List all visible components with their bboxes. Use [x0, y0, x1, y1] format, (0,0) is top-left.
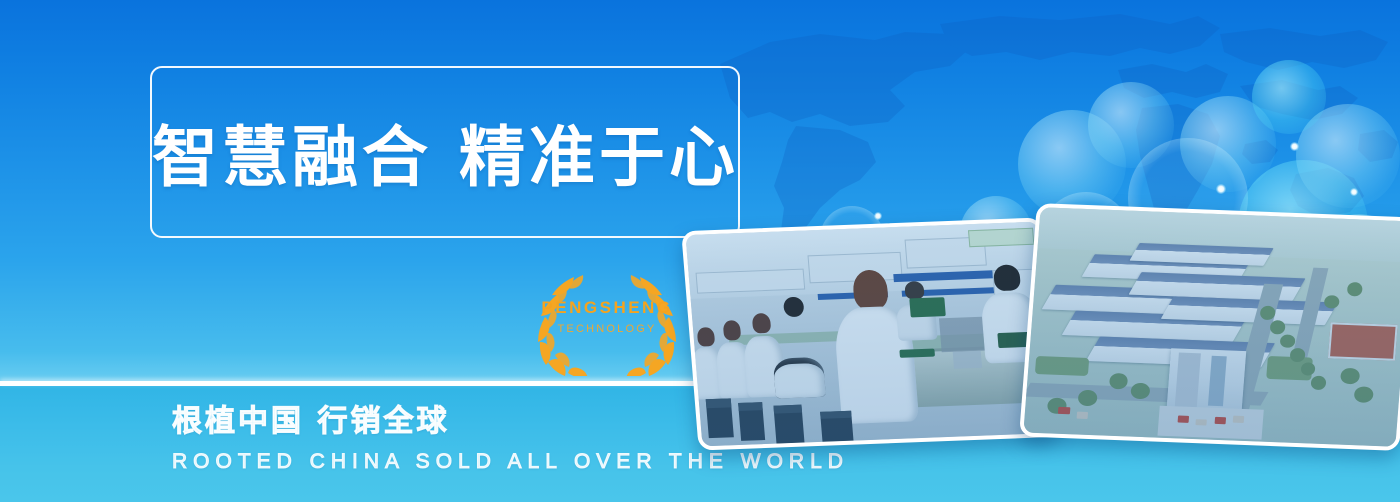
photo-panels: [680, 196, 1400, 461]
photo-factory-production-line: [681, 217, 1059, 450]
pengsheng-logo: PENGSHENG TECHNOLOGY: [528, 272, 686, 376]
promo-banner: 智慧融合 精准于心: [0, 0, 1400, 502]
page-title: 智慧融合 精准于心: [152, 104, 738, 200]
photo-factory-campus-aerial: [1019, 203, 1400, 451]
headline-box: 智慧融合 精准于心: [150, 66, 740, 238]
laurel-wreath-icon: [528, 272, 686, 376]
